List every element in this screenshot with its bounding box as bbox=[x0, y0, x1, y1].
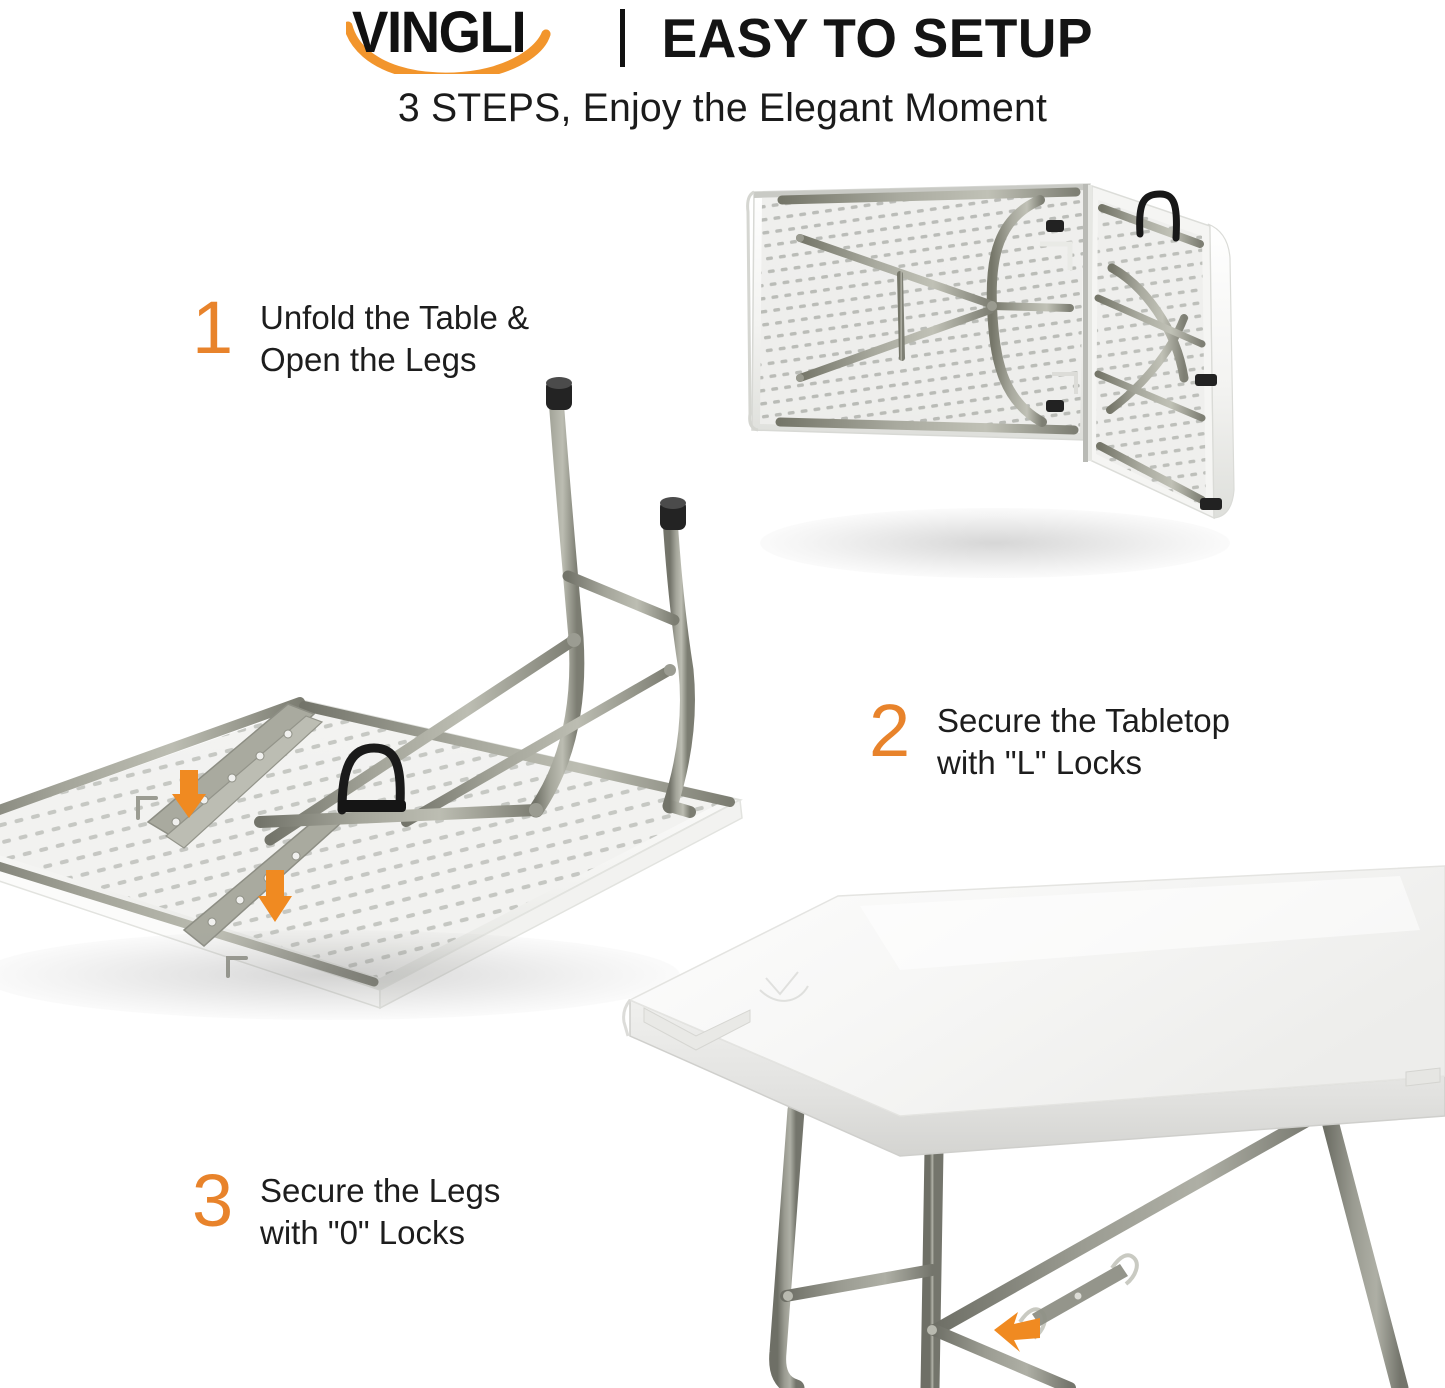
step-1-line-1: Unfold the Table & bbox=[260, 297, 529, 339]
header-brand-row: VINGLI EASY TO SETUP bbox=[0, 2, 1445, 74]
step-1-caption: 1 Unfold the Table & Open the Legs bbox=[192, 297, 529, 381]
photo-folded-table bbox=[740, 178, 1260, 578]
step-3-number: 3 bbox=[192, 1164, 256, 1238]
header: VINGLI EASY TO SETUP 3 STEPS, Enjoy the … bbox=[0, 0, 1445, 150]
step-3-text: Secure the Legs with "0" Locks bbox=[260, 1170, 500, 1254]
step-2-line-2: with "L" Locks bbox=[937, 742, 1230, 784]
step-2-line-1: Secure the Tabletop bbox=[937, 700, 1230, 742]
photo-assembled-table bbox=[600, 860, 1445, 1388]
header-subtitle: 3 STEPS, Enjoy the Elegant Moment bbox=[14, 86, 1430, 131]
logo-wordmark: VINGLI bbox=[352, 2, 525, 64]
upside-down-table-shadow bbox=[0, 930, 680, 1020]
orange-arrow-o-lock bbox=[994, 1312, 1040, 1352]
carry-handle-base bbox=[338, 800, 406, 812]
step-3-line-2: with "0" Locks bbox=[260, 1212, 500, 1254]
step-1-line-2: Open the Legs bbox=[260, 339, 529, 381]
header-title: EASY TO SETUP bbox=[661, 8, 1092, 68]
step-2-number: 2 bbox=[869, 694, 933, 768]
step-3-line-1: Secure the Legs bbox=[260, 1170, 500, 1212]
step-2-text: Secure the Tabletop with "L" Locks bbox=[937, 700, 1230, 784]
step-1-number: 1 bbox=[192, 291, 256, 365]
step-2-caption: 2 Secure the Tabletop with "L" Locks bbox=[869, 700, 1230, 784]
header-divider bbox=[620, 9, 625, 67]
o-lock-pin bbox=[1075, 1293, 1082, 1300]
step-1-text: Unfold the Table & Open the Legs bbox=[260, 297, 529, 381]
infographic-page: VINGLI EASY TO SETUP 3 STEPS, Enjoy the … bbox=[0, 0, 1445, 1388]
tabletop bbox=[624, 866, 1445, 1156]
folded-panel-left bbox=[748, 184, 1090, 440]
table-leg-frame bbox=[778, 1106, 1400, 1388]
step-3-caption: 3 Secure the Legs with "0" Locks bbox=[192, 1170, 500, 1254]
vingli-logo: VINGLI bbox=[346, 2, 598, 74]
assembled-table-illustration bbox=[600, 860, 1445, 1388]
center-hinge-seam bbox=[1083, 184, 1092, 462]
folded-table-shadow bbox=[760, 508, 1230, 578]
